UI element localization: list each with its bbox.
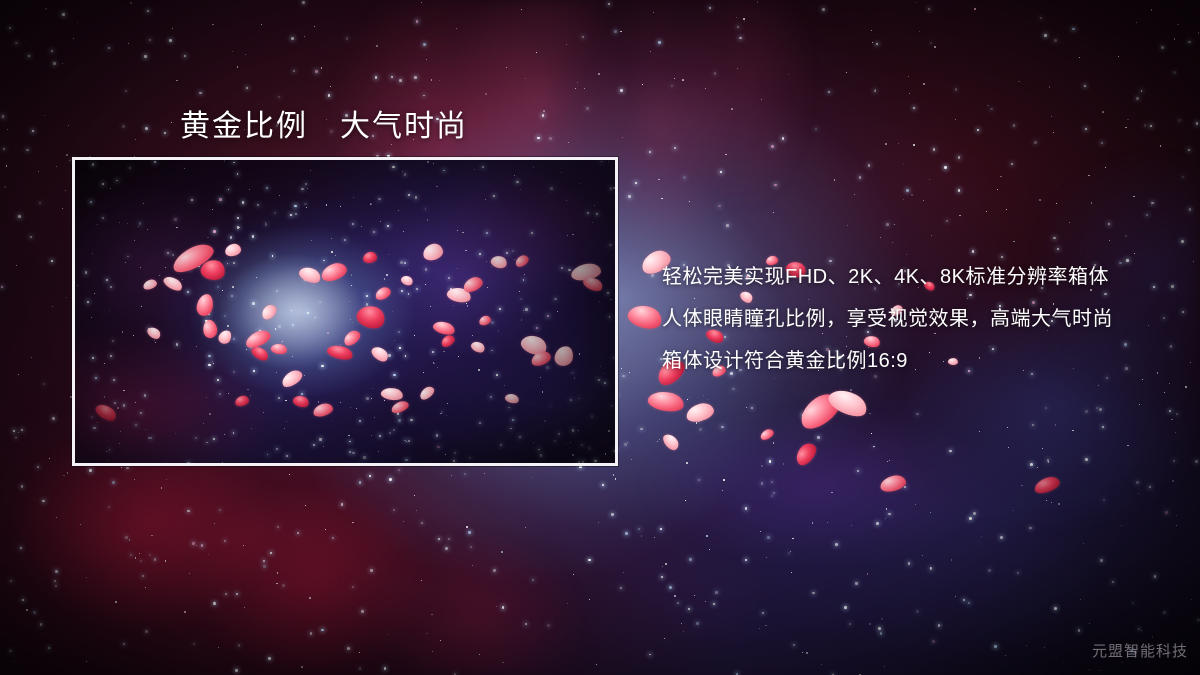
body-copy-block: 轻松完美实现FHD、2K、4K、8K标准分辨率箱体 人体眼睛瞳孔比例，享受视觉效… xyxy=(662,256,1162,382)
watermark-text: 元盟智能科技 xyxy=(1092,640,1188,661)
body-copy-line-3: 箱体设计符合黄金比例16:9 xyxy=(662,340,1162,382)
slide-title: 黄金比例 大气时尚 xyxy=(180,101,468,145)
body-copy-line-1: 轻松完美实现FHD、2K、4K、8K标准分辨率箱体 xyxy=(662,256,1162,298)
body-copy-line-2: 人体眼睛瞳孔比例，享受视觉效果，高端大气时尚 xyxy=(662,298,1162,340)
panel-vignette xyxy=(75,160,615,463)
slide-canvas: 黄金比例 大气时尚 轻松完美实现FHD、2K、4K、8K标准分辨率箱体 人体眼睛… xyxy=(0,0,1200,675)
framed-image-panel xyxy=(72,157,618,466)
